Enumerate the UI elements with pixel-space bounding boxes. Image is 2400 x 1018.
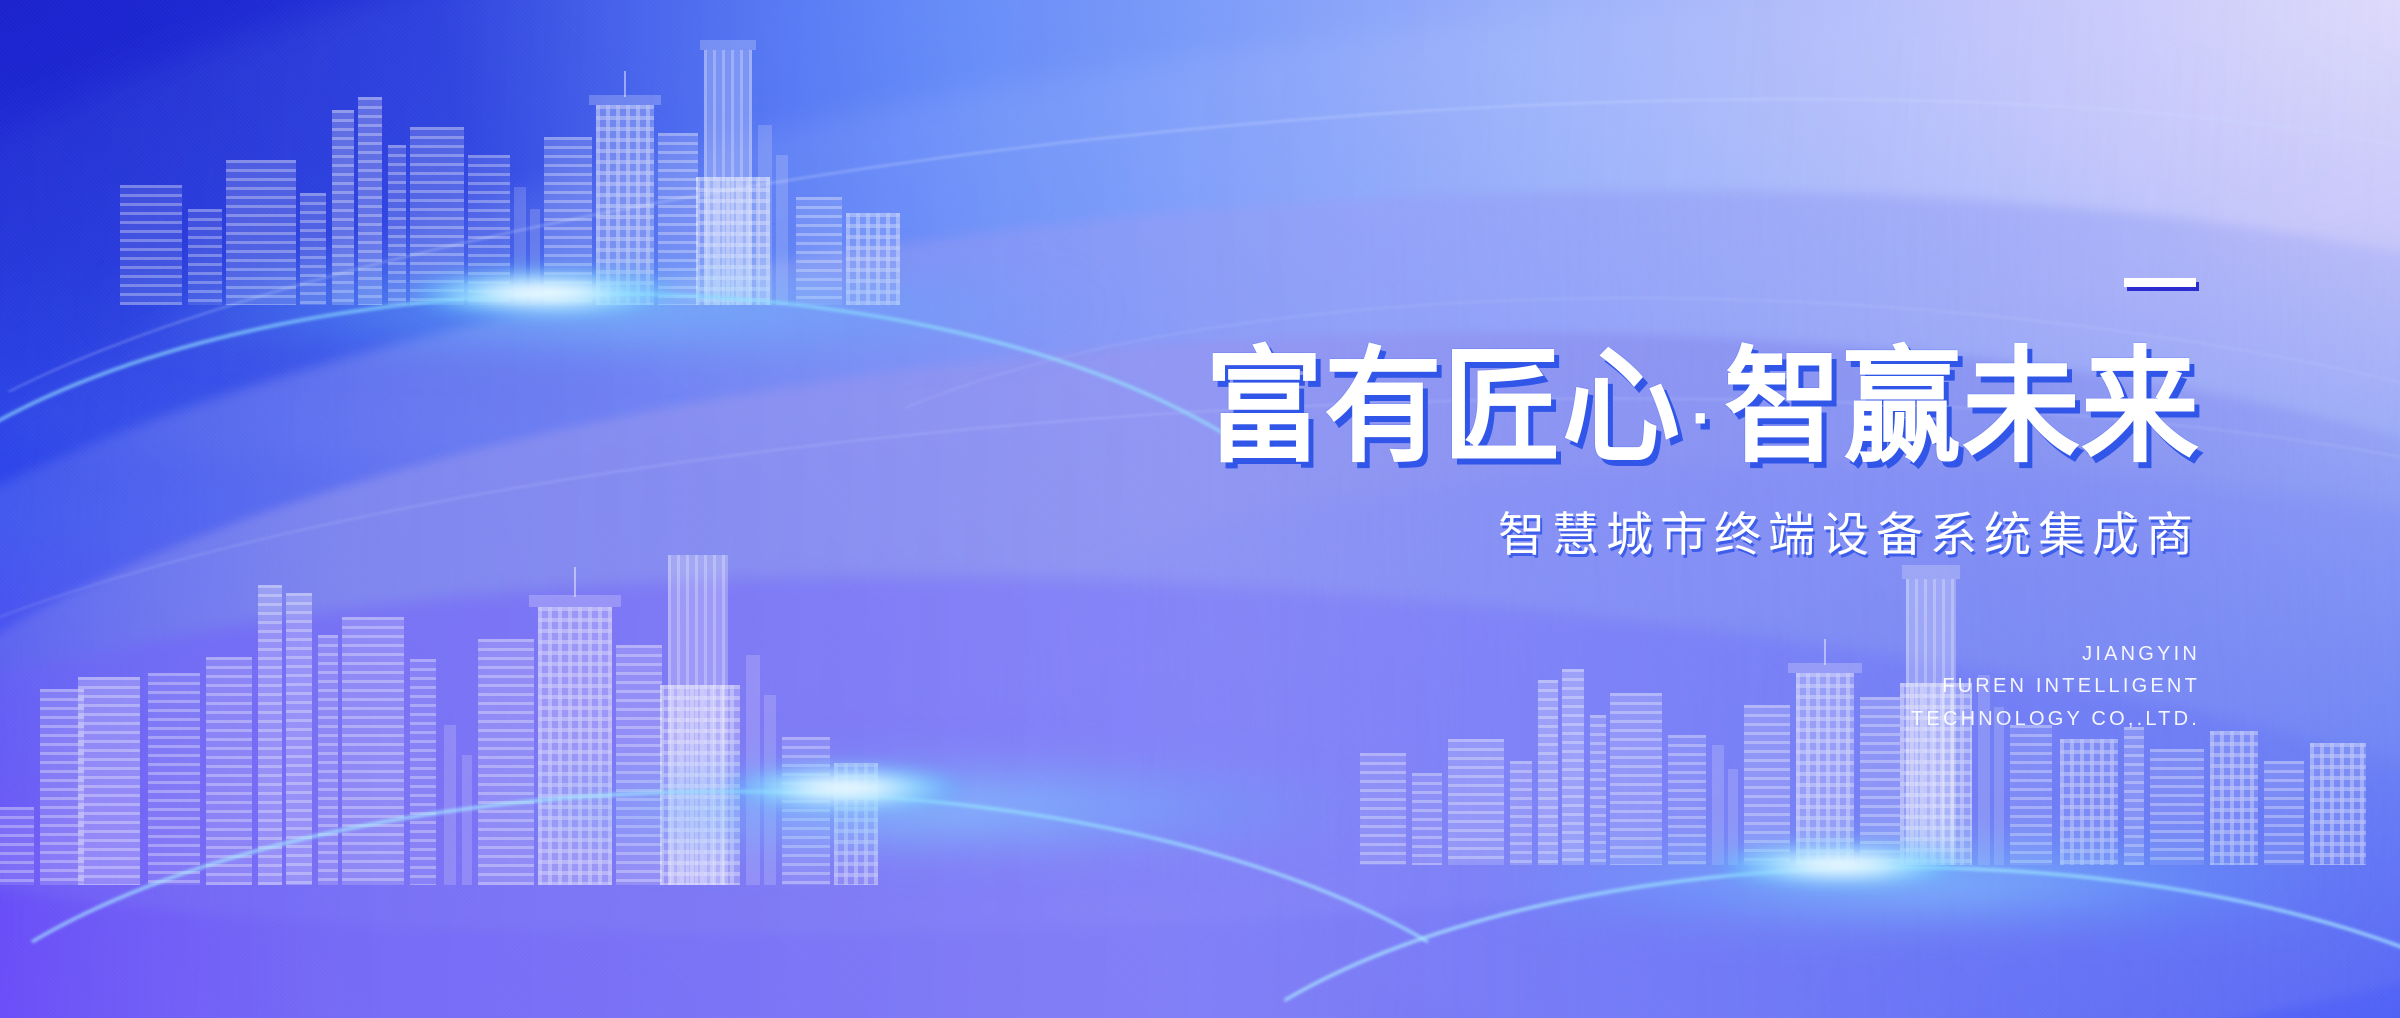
- headline-separator: ·: [1681, 378, 1724, 456]
- accent-dash-icon: 一: [2124, 278, 2196, 287]
- page-title: 富有匠心·智赢未来: [1205, 345, 2200, 470]
- company-line-brand: FUREN INTELLIGENT: [1911, 670, 2200, 702]
- company-name-block: JIANGYIN FUREN INTELLIGENT TECHNOLOGY CO…: [1911, 638, 2200, 735]
- headline-right: 智赢未来: [1724, 338, 2200, 478]
- promotional-banner: 一 富有匠心·智赢未来 智慧城市终端设备系统集成商 JIANGYIN FUREN…: [0, 0, 2400, 1018]
- skyline-upper-left: [120, 40, 900, 305]
- company-line-city: JIANGYIN: [1911, 638, 2200, 670]
- headline-left: 富有匠心: [1205, 338, 1681, 478]
- page-subtitle: 智慧城市终端设备系统集成商: [1498, 509, 2200, 561]
- skyline-right: [1360, 565, 2400, 865]
- company-line-suffix: TECHNOLOGY CO,.LTD.: [1911, 703, 2200, 735]
